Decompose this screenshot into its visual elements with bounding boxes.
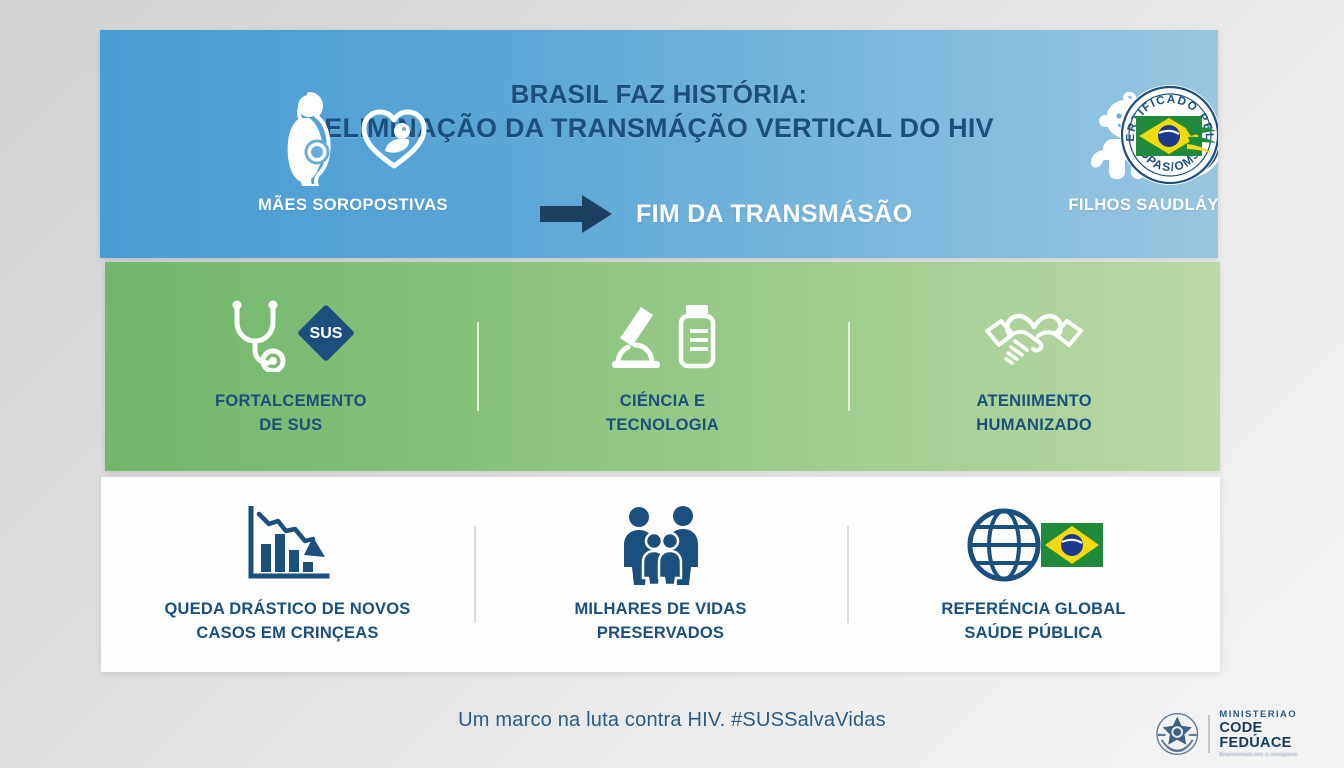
handshake-heart-icon: [979, 301, 1089, 371]
certification-seal-icon: CERTIFICADO PELA OPAS/OMS: [1118, 83, 1218, 187]
hero-center-label: FIM DA TRANSMÁSÃO: [636, 200, 912, 229]
green-column-1-label-line-2: DE SUS: [105, 414, 477, 437]
ministry-logo-text: MINISTERIAO CODE FEDÚACE Bewnsrenusit.ne…: [1219, 710, 1335, 759]
microscope-icon: [606, 303, 666, 369]
infographic-poster: BRASIL FAZ HISTÓRIA: ELIMINAÇÃO DA TRANS…: [0, 0, 1344, 768]
sus-badge-text: SUS: [309, 325, 342, 342]
hero-center-group: FIM DA TRANSMÁSÃO: [540, 193, 960, 235]
white-column-2-label-line-2: PRESERVADOS: [474, 622, 847, 645]
green-column-atendimento[interactable]: ATENIIMENTO HUMANIZADO: [848, 296, 1220, 437]
green-column-2-label-line-2: TECNOLOGIA: [477, 414, 849, 437]
pregnant-woman-icon: [276, 90, 352, 186]
white-column-1-icons: [101, 504, 474, 586]
green-column-1-icons: SUS: [105, 300, 477, 372]
white-column-3-label-line-1: REFERÉNCIA GLOBAL: [847, 598, 1220, 621]
green-column-3-label: ATENIIMENTO HUMANIZADO: [848, 390, 1220, 437]
ministry-line-3: Bewnsrenusit.neis is onnogsona: [1219, 753, 1335, 758]
ministry-logo: MINISTERIAO CODE FEDÚACE Bewnsrenusit.ne…: [1155, 706, 1335, 762]
white-column-2-label: MILHARES DE VIDAS PRESERVADOS: [474, 598, 847, 645]
white-column-3-label-line-2: SAÚDE PÚBLICA: [847, 622, 1220, 645]
hero-left-group: MÃES SOROPOSTIVAS: [228, 88, 478, 215]
green-column-1-label: FORTALCEMENTO DE SUS: [105, 390, 477, 437]
right-arrow-icon: [540, 193, 614, 235]
brazil-flag-icon: [1136, 116, 1202, 156]
ministry-logo-divider: [1208, 715, 1210, 753]
white-column-3-label: REFERÉNCIA GLOBAL SAÚDE PÚBLICA: [847, 598, 1220, 645]
green-column-1-label-line-1: FORTALCEMENTO: [105, 390, 477, 413]
white-column-2-icons: [474, 504, 847, 586]
hero-band: BRASIL FAZ HISTÓRIA: ELIMINAÇÃO DA TRANS…: [100, 30, 1218, 258]
green-column-2-icons: [477, 300, 849, 372]
hero-right-caption: FILHOS SAUDLÁYES: [1030, 196, 1218, 215]
footer-tagline: Um marco na luta contra HIV. #SUSSalvaVi…: [0, 709, 1344, 732]
heart-with-baby-icon: [358, 104, 430, 172]
green-column-2-label: CIÉNCIA E TECNOLOGIA: [477, 390, 849, 437]
ministry-line-2: CODE FEDÚACE: [1219, 721, 1335, 750]
ministry-line-1: MINISTERIAO: [1219, 710, 1335, 720]
stethoscope-icon: [225, 300, 287, 372]
green-column-2-label-line-1: CIÉNCIA E: [477, 390, 849, 413]
green-column-fortalcemento[interactable]: SUS FORTALCEMENTO DE SUS: [105, 296, 477, 437]
vaccine-vial-icon: [674, 303, 720, 369]
white-column-queda[interactable]: QUEDA DRÁSTICO DE NOVOS CASOS EM CRINÇEA…: [101, 504, 474, 645]
green-column-ciencia[interactable]: CIÉNCIA E TECNOLOGIA: [477, 296, 849, 437]
white-column-1-label-line-2: CASOS EM CRINÇEAS: [101, 622, 474, 645]
white-column-3-icons: [847, 504, 1220, 586]
white-column-referencia[interactable]: REFERÉNCIA GLOBAL SAÚDE PÚBLICA: [847, 504, 1220, 645]
green-band: SUS FORTALCEMENTO DE SUS: [105, 262, 1220, 471]
declining-bar-chart-icon: [245, 506, 331, 584]
green-column-3-label-line-1: ATENIIMENTO: [848, 390, 1220, 413]
family-group-icon: [615, 505, 707, 585]
green-column-3-label-line-2: HUMANIZADO: [848, 414, 1220, 437]
white-column-1-label-line-1: QUEDA DRÁSTICO DE NOVOS: [101, 598, 474, 621]
globe-icon: [965, 506, 1043, 584]
sus-diamond-badge-icon: SUS: [295, 302, 357, 364]
white-column-2-label-line-1: MILHARES DE VIDAS: [474, 598, 847, 621]
white-column-vidas[interactable]: MILHARES DE VIDAS PRESERVADOS: [474, 504, 847, 645]
hero-left-caption: MÃES SOROPOSTIVAS: [228, 196, 478, 215]
white-band: QUEDA DRÁSTICO DE NOVOS CASOS EM CRINÇEA…: [101, 477, 1220, 672]
brazil-coat-of-arms-icon: [1155, 711, 1199, 757]
brazil-flag-icon: [1041, 523, 1103, 567]
hero-left-icons: [228, 88, 478, 188]
green-column-3-icons: [848, 300, 1220, 372]
white-column-1-label: QUEDA DRÁSTICO DE NOVOS CASOS EM CRINÇEA…: [101, 598, 474, 645]
